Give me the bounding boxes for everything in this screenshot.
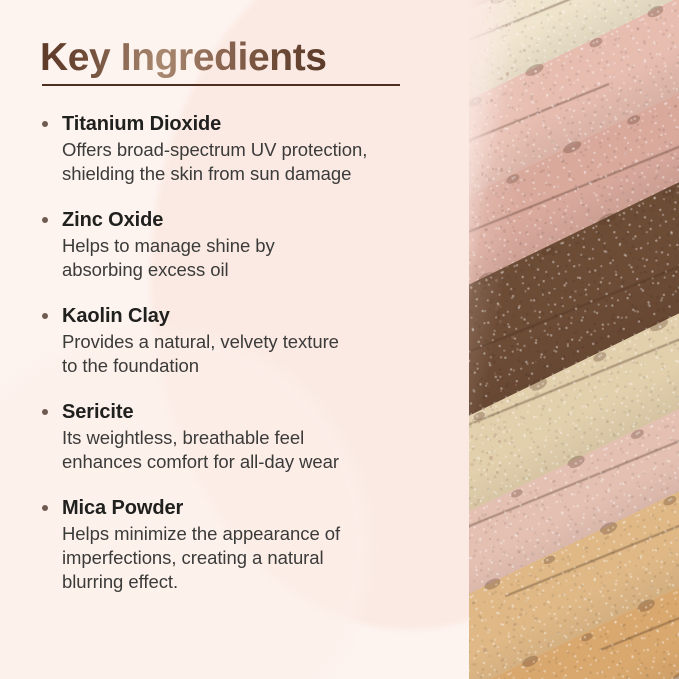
key-ingredients-infographic: Key Ingredients Titanium DioxideOffers b… xyxy=(0,0,679,679)
ingredient-item: Mica PowderHelps minimize the appearance… xyxy=(40,496,470,594)
ingredient-item: Kaolin ClayProvides a natural, velvety t… xyxy=(40,304,470,378)
ingredient-item: Zinc OxideHelps to manage shine by absor… xyxy=(40,208,470,282)
powder-swatch-image xyxy=(469,0,679,679)
bullet-dot-icon xyxy=(42,409,48,415)
bullet-dot-icon xyxy=(42,217,48,223)
ingredient-description: Offers broad-spectrum UV protection, shi… xyxy=(62,138,470,186)
ingredient-description: Helps minimize the appearance of imperfe… xyxy=(62,522,470,594)
bullet-dot-icon xyxy=(42,313,48,319)
bullet-dot-icon xyxy=(42,505,48,511)
ingredient-name: Mica Powder xyxy=(62,496,470,521)
title-underline xyxy=(42,84,400,86)
ingredient-name: Kaolin Clay xyxy=(62,304,470,329)
content-column: Key Ingredients Titanium DioxideOffers b… xyxy=(0,0,470,679)
ingredient-item: Titanium DioxideOffers broad-spectrum UV… xyxy=(40,112,470,186)
ingredient-description: Provides a natural, velvety texture to t… xyxy=(62,330,470,378)
ingredient-description: Its weightless, breathable feel enhances… xyxy=(62,426,470,474)
ingredient-name: Titanium Dioxide xyxy=(62,112,470,137)
page-title: Key Ingredients xyxy=(40,38,327,83)
ingredient-name: Zinc Oxide xyxy=(62,208,470,233)
powder-band-stack xyxy=(469,0,679,679)
ingredient-description: Helps to manage shine by absorbing exces… xyxy=(62,234,470,282)
ingredient-name: Sericite xyxy=(62,400,470,425)
powder-edge-fade xyxy=(469,0,679,679)
ingredient-list: Titanium DioxideOffers broad-spectrum UV… xyxy=(40,112,470,595)
ingredient-item: SericiteIts weightless, breathable feel … xyxy=(40,400,470,474)
bullet-dot-icon xyxy=(42,121,48,127)
